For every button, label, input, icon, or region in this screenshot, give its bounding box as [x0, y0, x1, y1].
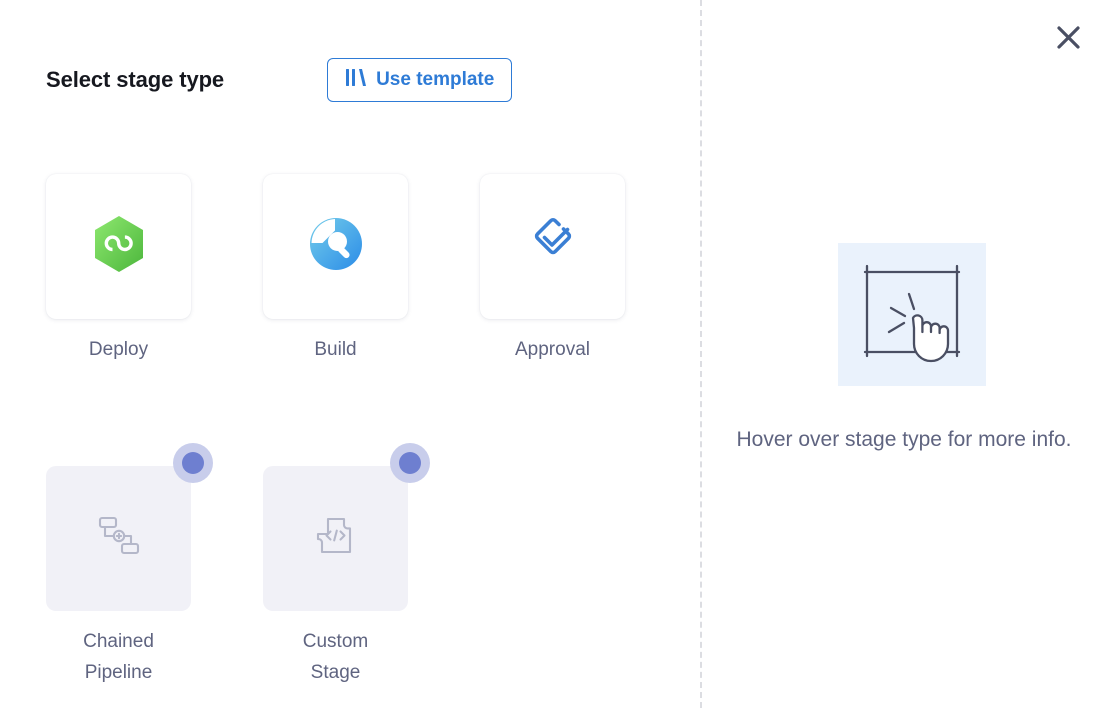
status-badge — [173, 443, 213, 483]
status-badge — [390, 443, 430, 483]
stage-type-label: Build — [314, 334, 356, 365]
build-magnifier-circle-icon — [308, 216, 364, 277]
click-hand-square-icon — [838, 243, 986, 386]
custom-stage-tile[interactable] — [263, 466, 408, 611]
stage-type-card-approval[interactable]: Approval — [480, 174, 625, 365]
panel-header: Select stage type Use template — [46, 58, 512, 102]
use-template-label: Use template — [376, 69, 494, 91]
deploy-hexagon-infinity-icon — [91, 214, 147, 279]
stage-type-label: Deploy — [89, 334, 148, 365]
approval-tile[interactable] — [480, 174, 625, 319]
approval-diamond-check-icon — [525, 216, 581, 277]
chained-pipeline-nodes-icon — [94, 511, 144, 566]
use-template-button[interactable]: Use template — [327, 58, 512, 102]
info-pane: Hover over stage type for more info. — [702, 0, 1106, 708]
stage-type-label: Approval — [515, 334, 590, 365]
stage-type-row-2: Chained Pipeline — [46, 466, 666, 688]
deploy-tile[interactable] — [46, 174, 191, 319]
stage-type-card-chained-pipeline[interactable]: Chained Pipeline — [46, 466, 191, 688]
close-icon — [1055, 24, 1082, 56]
stage-type-label: Chained Pipeline — [83, 626, 154, 688]
stage-type-card-build[interactable]: Build — [263, 174, 408, 365]
stage-type-card-custom-stage[interactable]: Custom Stage — [263, 466, 408, 688]
stage-type-row-1: Deploy — [46, 174, 666, 365]
build-tile[interactable] — [263, 174, 408, 319]
close-button[interactable] — [1049, 21, 1087, 59]
stage-type-selection-pane: Select stage type Use template — [0, 0, 700, 708]
badge-dot — [399, 452, 421, 474]
chained-pipeline-tile[interactable] — [46, 466, 191, 611]
stage-type-card-deploy[interactable]: Deploy — [46, 174, 191, 365]
stage-type-label: Custom Stage — [303, 626, 368, 688]
select-stage-type-modal: Select stage type Use template — [0, 0, 1106, 708]
hover-hint-text: Hover over stage type for more info. — [724, 424, 1084, 455]
custom-stage-puzzle-code-icon — [312, 512, 360, 565]
page-title: Select stage type — [46, 67, 224, 93]
template-bars-icon — [345, 68, 367, 92]
badge-dot — [182, 452, 204, 474]
stage-type-grid: Deploy — [46, 174, 666, 688]
